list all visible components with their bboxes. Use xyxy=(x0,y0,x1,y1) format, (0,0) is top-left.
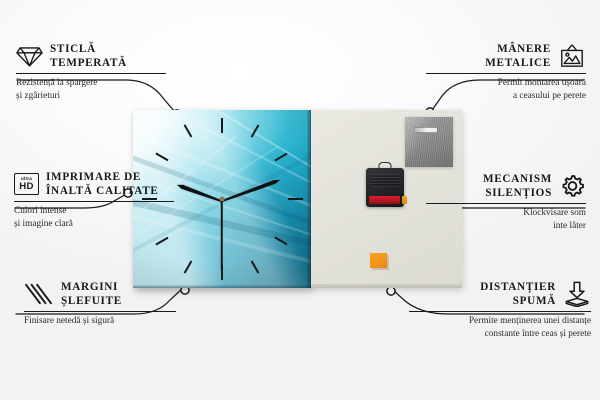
callout-hd-print: ultra HD IMPRIMARE DE ÎNALTĂ CALITATE Cu… xyxy=(14,170,174,230)
ultra-hd-badge-icon: ultra HD xyxy=(14,173,39,195)
clock-tick xyxy=(221,118,223,133)
callout-desc-line1: Culori intense xyxy=(14,205,174,217)
callout-divider xyxy=(409,311,591,312)
callout-title-line2: SILENȚIOS xyxy=(483,186,552,200)
callout-tempered-glass: STICLĂ TEMPERATĂ Rezistență la spargere … xyxy=(16,42,166,102)
callout-title-line1: DISTANȚIER xyxy=(480,280,556,294)
diagonal-stripes-icon xyxy=(24,282,54,306)
foam-spacer-pad xyxy=(370,253,387,268)
metal-hanger-plate xyxy=(405,117,453,167)
callout-divider xyxy=(426,203,586,204)
callout-desc-line2: și imagine clară xyxy=(14,218,174,230)
callout-divider xyxy=(24,311,176,312)
callout-desc-line2: a ceasului pe perete xyxy=(426,90,586,102)
callout-divider xyxy=(426,73,586,74)
callout-metal-handles: MÂNERE METALICE Permit montarea ușoară a… xyxy=(426,42,586,102)
clock-center-hub xyxy=(220,197,225,202)
callout-desc-line1: Rezistență la spargere xyxy=(16,77,166,89)
hanger-highlight xyxy=(414,127,438,133)
callout-desc-line2: inte låter xyxy=(426,220,586,232)
callout-title-line1: MÂNERE xyxy=(485,42,551,56)
callout-desc-line1: Klockvisare som xyxy=(426,207,586,219)
diamond-icon xyxy=(16,44,43,68)
callout-polished-edges: MARGINI ȘLEFUITE Finisare netedă și sigu… xyxy=(24,280,176,328)
callout-foam-spacer: DISTANȚIER SPUMĂ Permite menținerea unei… xyxy=(409,280,591,340)
battery xyxy=(369,196,400,205)
callout-desc-line1: Permite menținerea unei distanțe xyxy=(409,315,591,327)
callout-title-line1: MARGINI xyxy=(61,280,122,294)
quartz-mechanism xyxy=(366,168,404,207)
callout-desc-line2: și zgârieturi xyxy=(16,90,166,102)
callout-title-line2: METALICE xyxy=(485,56,551,70)
callout-title-line1: IMPRIMARE DE xyxy=(46,170,159,184)
callout-title-line1: STICLĂ xyxy=(50,42,127,56)
clock-second-hand xyxy=(221,200,223,270)
callout-title-line2: TEMPERATĂ xyxy=(50,56,127,70)
callout-silent-mechanism: MECANISM SILENȚIOS Klockvisare som inte … xyxy=(426,172,586,232)
infographic-canvas: STICLĂ TEMPERATĂ Rezistență la spargere … xyxy=(0,0,600,400)
callout-title-line2: ÎNALTĂ CALITATE xyxy=(46,184,159,198)
gear-icon xyxy=(559,173,586,199)
callout-desc-line1: Finisare netedă și sigură xyxy=(24,315,176,327)
battery-terminal xyxy=(402,196,407,204)
callout-desc-line1: Permit montarea ușoară xyxy=(426,77,586,89)
clock-tick xyxy=(288,198,303,200)
hd-badge-large-label: HD xyxy=(19,182,33,192)
callout-divider xyxy=(14,201,174,202)
mechanism-label-strip xyxy=(370,174,400,187)
callout-title-line2: ȘLEFUITE xyxy=(61,294,122,308)
callout-title-line1: MECANISM xyxy=(483,172,552,186)
mechanism-hanging-loop xyxy=(379,162,392,171)
callout-desc-line2: constante între ceas și perete xyxy=(409,328,591,340)
arrow-press-pad-icon xyxy=(563,281,591,307)
callout-divider xyxy=(16,73,166,74)
callout-title-line2: SPUMĂ xyxy=(480,294,556,308)
picture-hanger-icon xyxy=(558,43,586,69)
endpoint-marker-foam-spacer xyxy=(387,287,395,295)
